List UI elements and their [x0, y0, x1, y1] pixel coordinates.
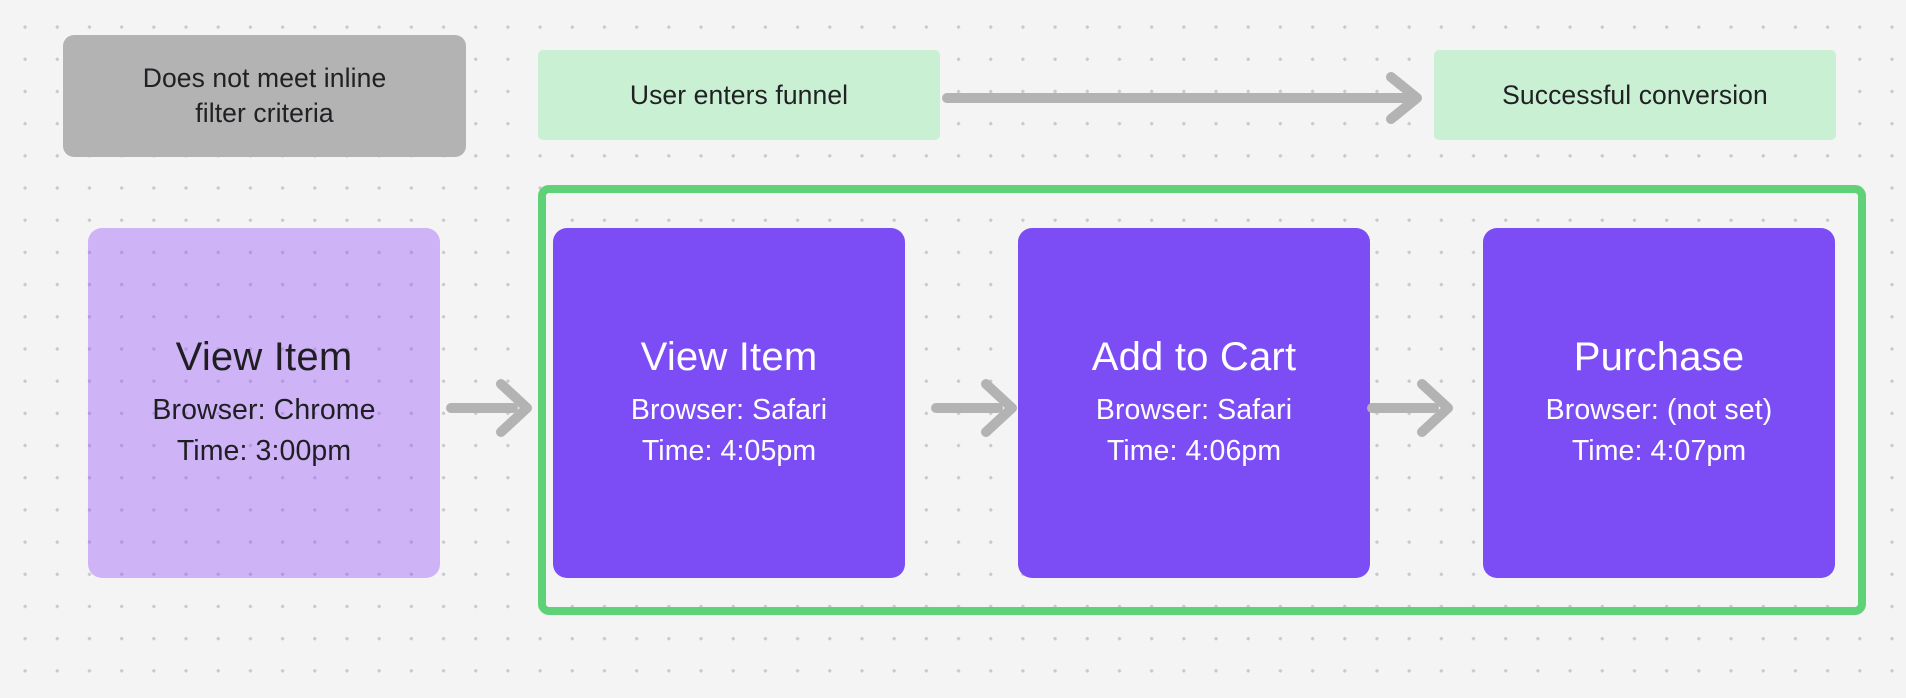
step-card-time: Time: 3:00pm	[177, 431, 351, 471]
step-card-time: Time: 4:05pm	[642, 431, 816, 471]
step-card-view-item[interactable]: View Item Browser: Safari Time: 4:05pm	[553, 228, 905, 578]
step-card-title: Purchase	[1574, 335, 1745, 379]
long-right-arrow-icon	[944, 72, 1428, 124]
legend-excluded-label: Does not meet inlinefilter criteria	[143, 61, 387, 131]
right-arrow-icon	[447, 378, 539, 438]
step-card-time: Time: 4:07pm	[1572, 431, 1746, 471]
legend-excluded-line1: Does not meet inline	[143, 63, 387, 93]
step-card-browser: Browser: Safari	[631, 390, 827, 430]
step-card-time: Time: 4:06pm	[1107, 431, 1281, 471]
step-card-browser: Browser: Chrome	[152, 390, 375, 430]
step-card-excluded-view-item[interactable]: View Item Browser: Chrome Time: 3:00pm	[88, 228, 440, 578]
step-card-title: View Item	[641, 335, 818, 379]
legend-conversion-label: Successful conversion	[1502, 80, 1768, 111]
legend-excluded-line2: filter criteria	[195, 98, 333, 128]
legend-conversion-box: Successful conversion	[1434, 50, 1836, 140]
legend-funnel-entry-label: User enters funnel	[630, 80, 848, 111]
step-card-title: Add to Cart	[1092, 335, 1297, 379]
legend-excluded-box: Does not meet inlinefilter criteria	[63, 35, 466, 157]
step-card-browser: Browser: Safari	[1096, 390, 1292, 430]
step-card-browser: Browser: (not set)	[1546, 390, 1773, 430]
diagram-canvas: Does not meet inlinefilter criteria User…	[0, 0, 1906, 698]
step-card-title: View Item	[176, 335, 353, 379]
legend-funnel-entry-box: User enters funnel	[538, 50, 940, 140]
step-card-add-to-cart[interactable]: Add to Cart Browser: Safari Time: 4:06pm	[1018, 228, 1370, 578]
step-card-purchase[interactable]: Purchase Browser: (not set) Time: 4:07pm	[1483, 228, 1835, 578]
